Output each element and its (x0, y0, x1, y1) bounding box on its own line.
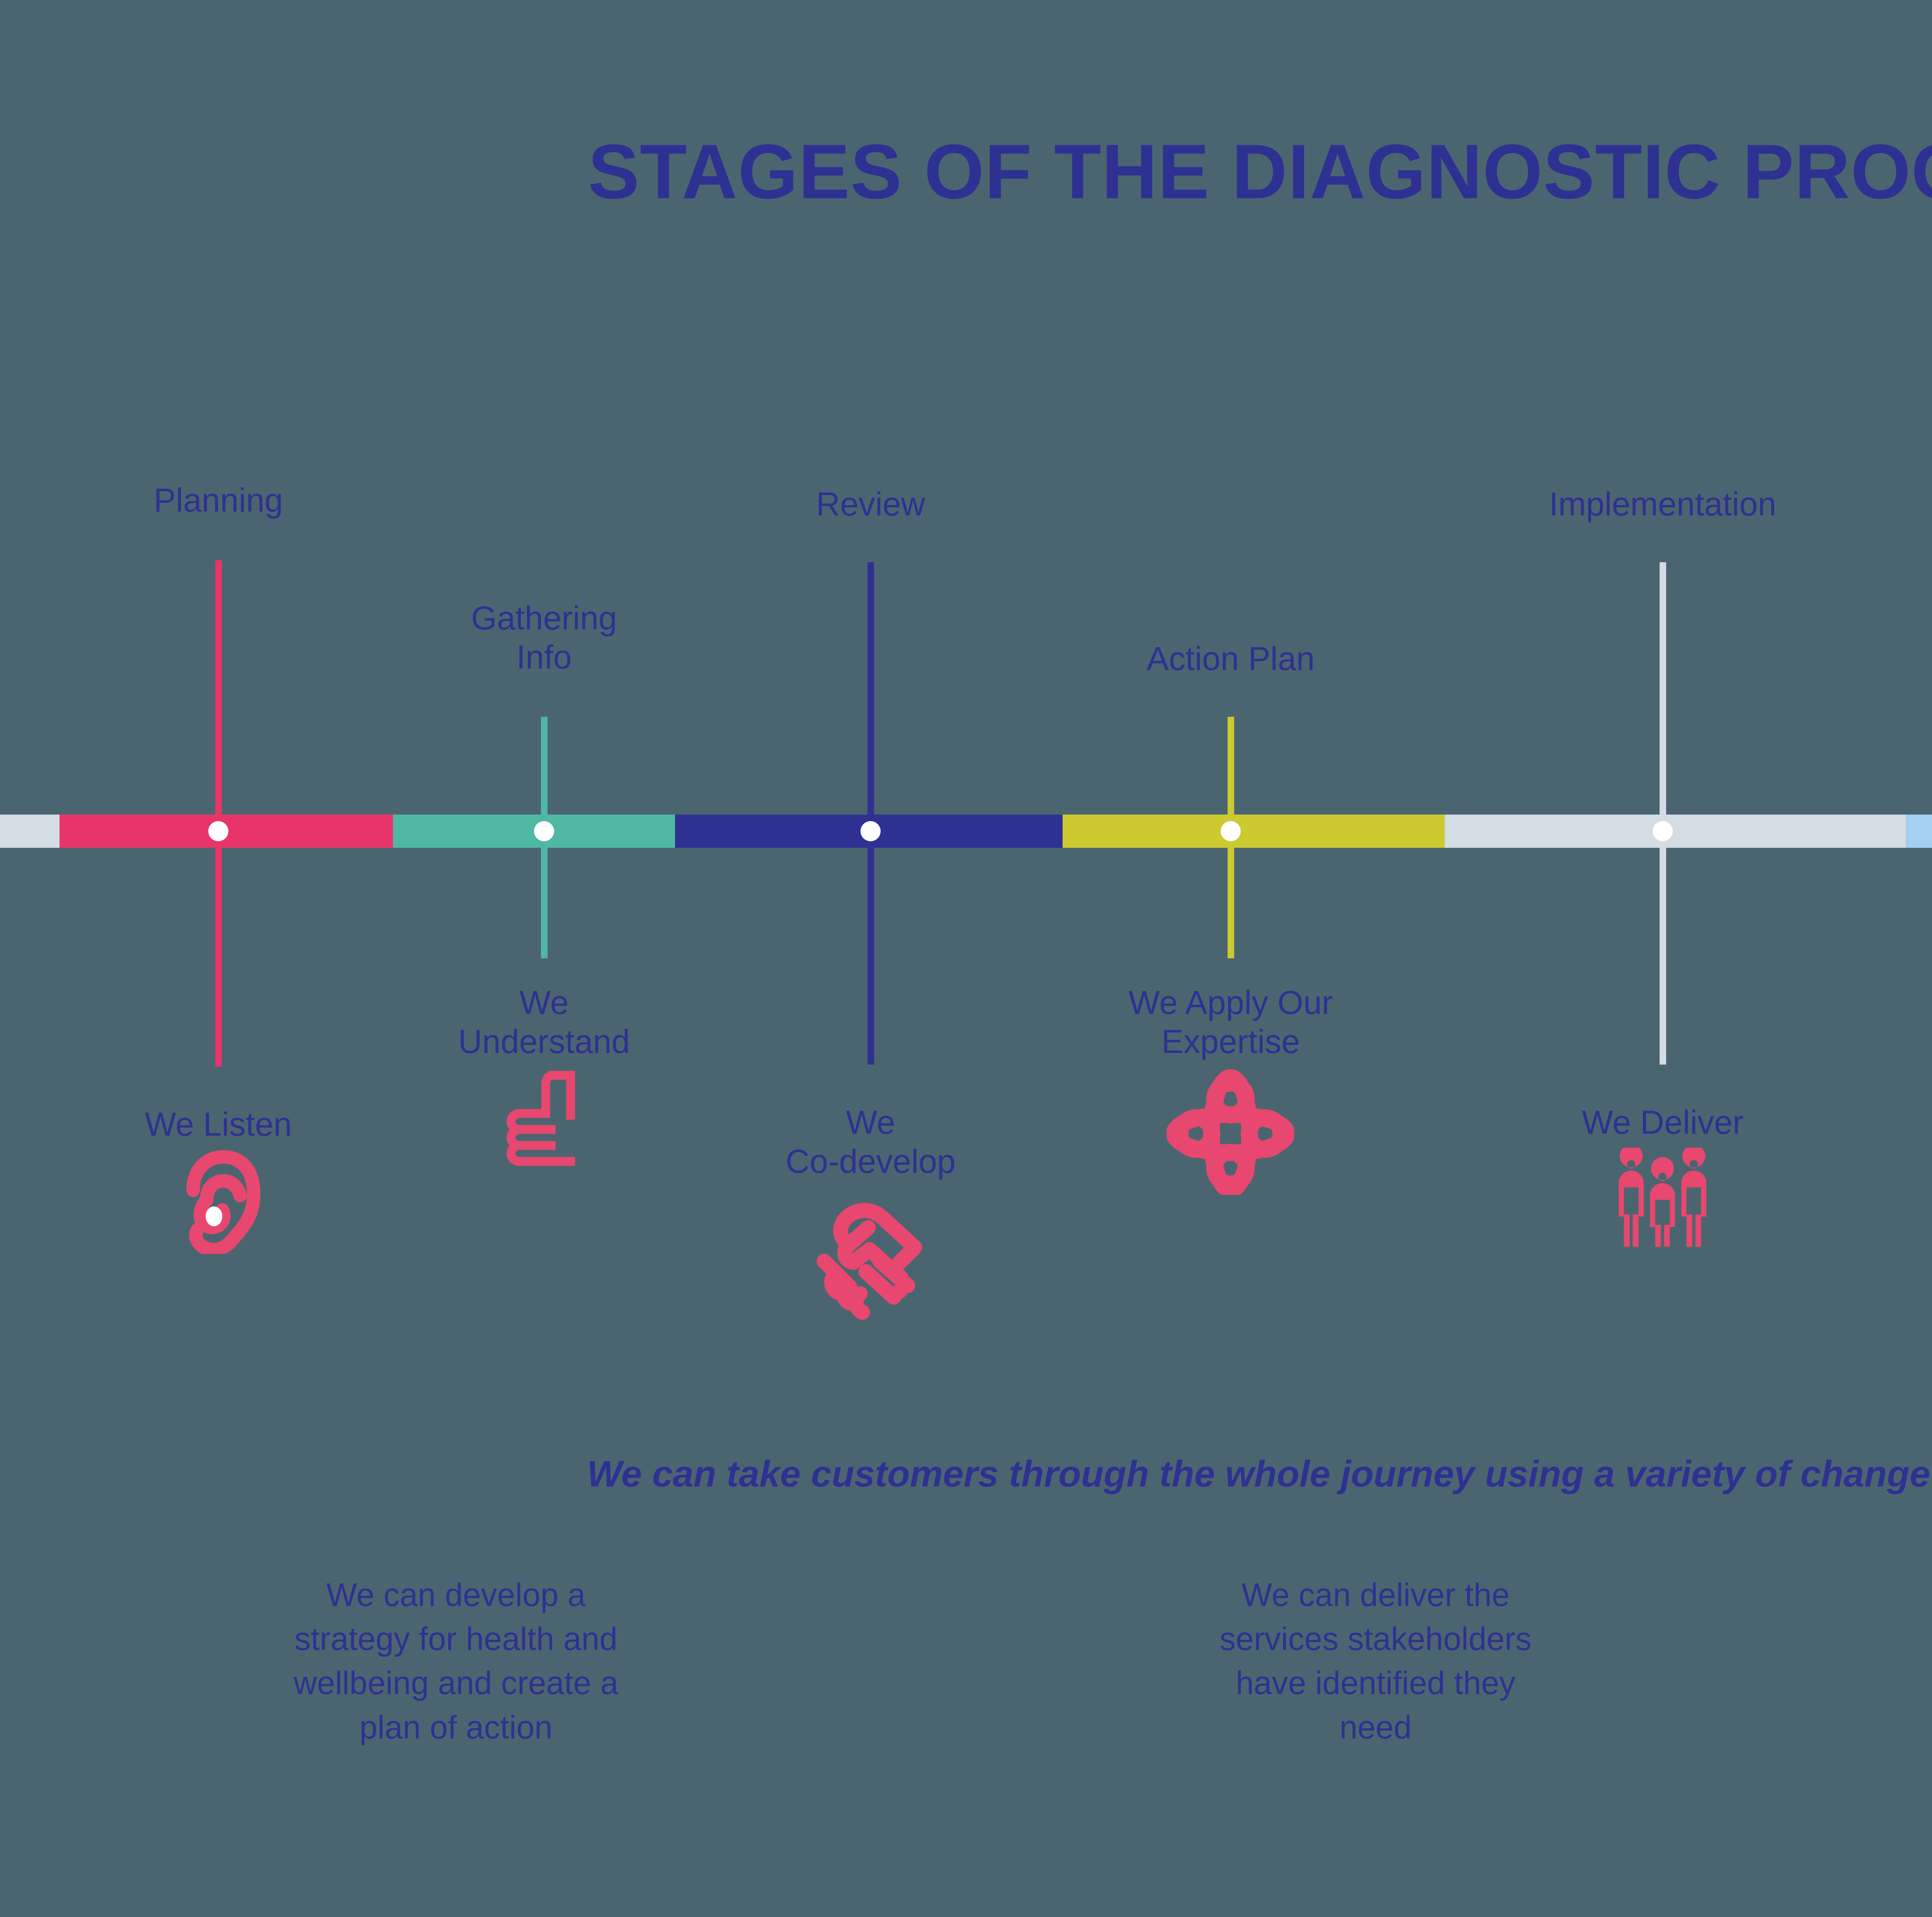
action-label-review: We Co-develop (786, 1103, 956, 1182)
stage-connector-planning (215, 560, 222, 1067)
timeline-node-planning[interactable] (208, 821, 228, 841)
action-label-planning: We Listen (145, 1105, 292, 1144)
action-block-action-plan: We Apply Our Expertise (1129, 983, 1333, 1195)
stage-label-planning: Planning (154, 481, 283, 520)
timeline-segment-implementation (1445, 815, 1906, 848)
timeline-segment-action-plan (1063, 815, 1445, 848)
ear-icon (166, 1150, 270, 1254)
stage-label-implementation: Implementation (1549, 485, 1776, 524)
stage-label-action-plan: Action Plan (1146, 640, 1315, 679)
stage-label-review: Review (816, 485, 925, 524)
page-title: STAGES OF THE DIAGNOSTIC PROCESS (0, 128, 1932, 216)
tagline: We can take customers through the whole … (0, 1453, 1932, 1495)
stage-connector-review (867, 562, 874, 1065)
timeline-node-action-plan[interactable] (1221, 821, 1241, 841)
action-label-implementation: We Deliver (1582, 1103, 1744, 1142)
timeline-segment-monitoring (1906, 815, 1932, 848)
action-label-action-plan: We Apply Our Expertise (1129, 983, 1333, 1062)
action-label-gathering-info: We Understand (458, 983, 630, 1062)
timeline-node-gathering-info[interactable] (534, 821, 554, 841)
timeline-node-review[interactable] (861, 821, 881, 841)
footer-blurb-deliver-services: We can deliver the services stakeholders… (1124, 1573, 1627, 1749)
footer-blurb-develop-strategy: We can develop a strategy for health and… (205, 1573, 707, 1749)
action-block-gathering-info: We Understand (458, 983, 630, 1169)
handshake-icon (813, 1187, 929, 1320)
timeline-bar (0, 815, 1932, 848)
action-block-implementation: We Deliver (1582, 1103, 1744, 1250)
three-people-icon (1611, 1148, 1715, 1249)
action-block-review: We Co-develop (786, 1103, 956, 1320)
network-atom-icon (1167, 1067, 1294, 1195)
action-block-planning: We Listen (145, 1105, 292, 1254)
timeline-node-implementation[interactable] (1653, 821, 1673, 841)
timeline-segment-lead-in (0, 815, 60, 848)
thumbs-up-icon (500, 1067, 588, 1170)
stage-label-gathering-info: Gathering Info (471, 599, 617, 677)
stage-connector-implementation (1660, 562, 1666, 1065)
